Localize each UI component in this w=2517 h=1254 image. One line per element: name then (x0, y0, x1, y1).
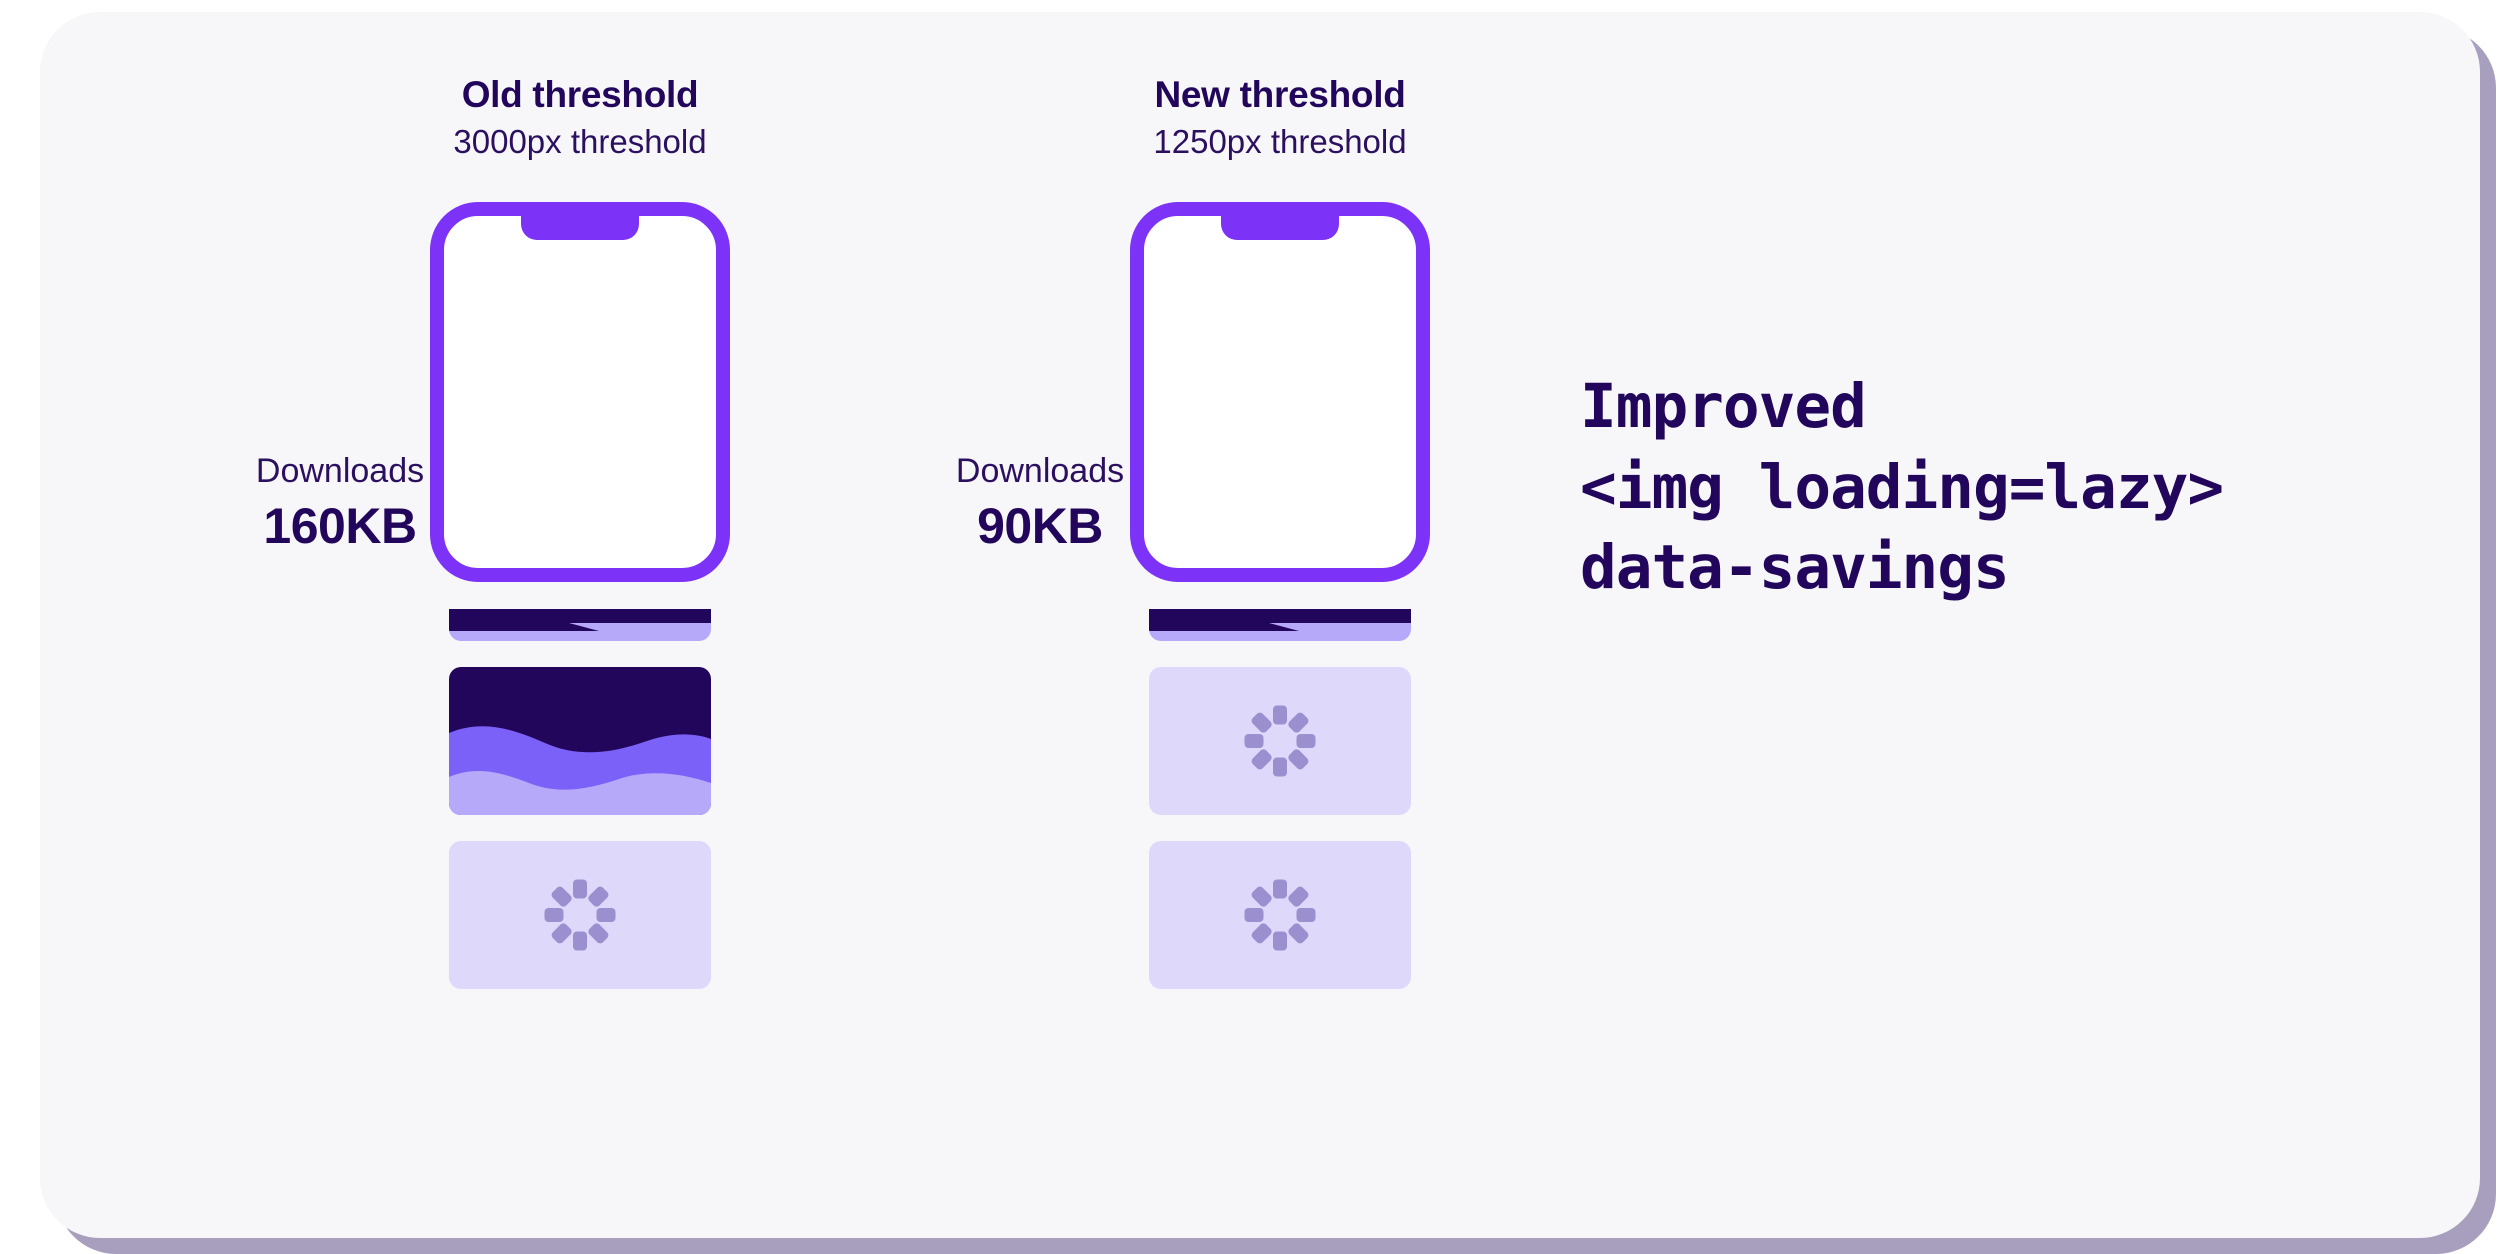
phone-feed-old (444, 216, 716, 568)
callout-line-3: data-savings (1580, 528, 2480, 609)
phone-screen-new (1144, 216, 1416, 568)
callout-text: Improved <img loading=lazy> data-savings (1580, 367, 2480, 609)
mountain-landscape-art (449, 253, 711, 401)
feed-below-phone-new (1130, 558, 1430, 1015)
image-loading-placeholder (1149, 667, 1411, 815)
column-header-old: Old threshold 3000px threshold (320, 75, 840, 160)
feed-below-phone-old (430, 558, 730, 1015)
callout-line-2: <img loading=lazy> (1580, 448, 2480, 529)
column-subtitle-old: 3000px threshold (320, 124, 840, 160)
phone-screen-old (444, 216, 716, 568)
tunnel-sunset-overflow-art (449, 609, 711, 641)
tunnel-sunset-image-overflow (449, 609, 711, 641)
phone-feed-new (1144, 216, 1416, 568)
forest-landscape-art (1149, 427, 1411, 568)
image-loading-placeholder (449, 841, 711, 989)
forest-landscape-image (1149, 427, 1411, 568)
tunnel-sunset-image-overflow (1149, 609, 1411, 641)
callout-line-1: Improved (1580, 367, 2480, 448)
mountain-landscape-image (449, 253, 711, 401)
loading-placeholder-art (1149, 841, 1411, 989)
column-title-old: Old threshold (320, 75, 840, 116)
forest-landscape-image (449, 427, 711, 568)
night-moon-art (449, 667, 711, 815)
column-title-new: New threshold (1020, 75, 1540, 116)
column-header-new: New threshold 1250px threshold (1020, 75, 1540, 160)
column-subtitle-new: 1250px threshold (1020, 124, 1540, 160)
illustration-card: Old threshold 3000px threshold New thres… (40, 12, 2480, 1238)
mountain-landscape-art (1149, 253, 1411, 401)
image-loading-placeholder (1149, 841, 1411, 989)
loading-placeholder-art (1149, 667, 1411, 815)
tunnel-sunset-overflow-art (1149, 609, 1411, 641)
loading-placeholder-art (449, 841, 711, 989)
forest-landscape-art (449, 427, 711, 568)
mountain-landscape-image (1149, 253, 1411, 401)
night-moon-image (449, 667, 711, 815)
